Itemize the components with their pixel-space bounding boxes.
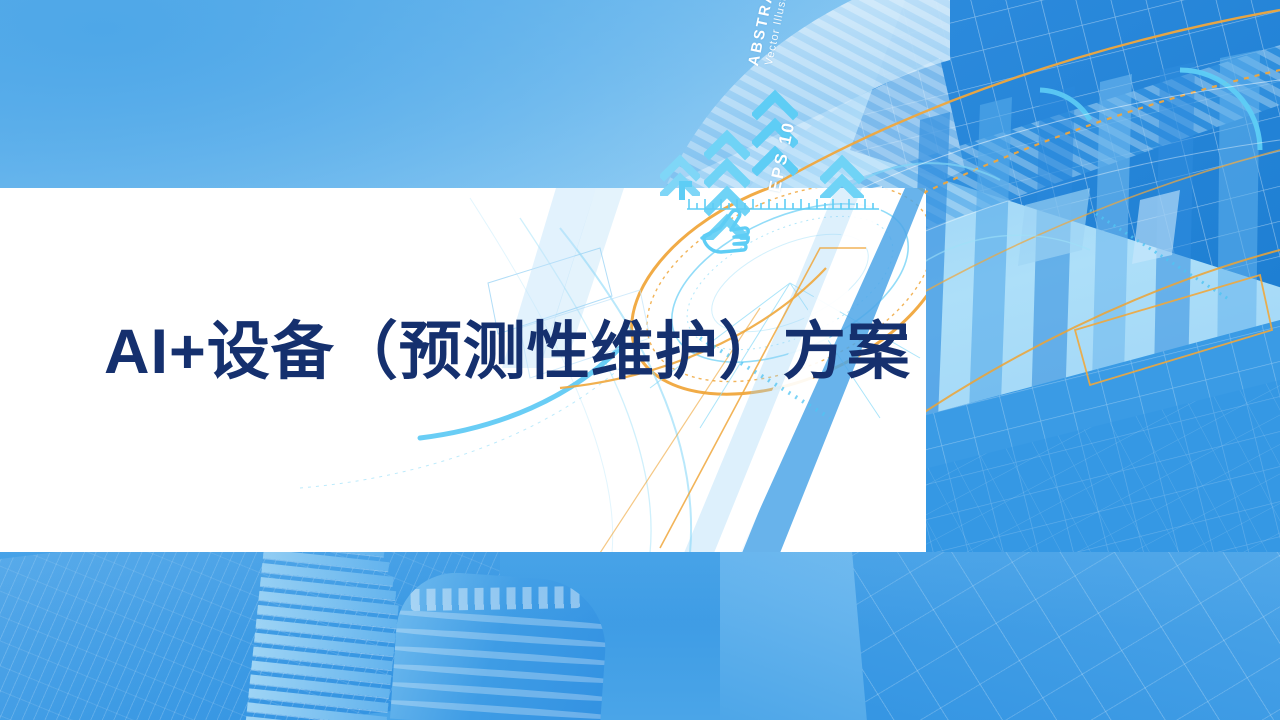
photo-band-haze bbox=[0, 552, 1280, 720]
pointing-hand-icon bbox=[698, 206, 754, 256]
chevron-up-icon-group-d bbox=[820, 150, 864, 203]
city-buildings-photo-band bbox=[0, 552, 1280, 720]
presentation-slide: ABSTRACT GRAPHIC Vector Illustration EPS… bbox=[0, 0, 1280, 720]
page-title: AI+设备（预测性维护）方案 bbox=[104, 315, 911, 389]
